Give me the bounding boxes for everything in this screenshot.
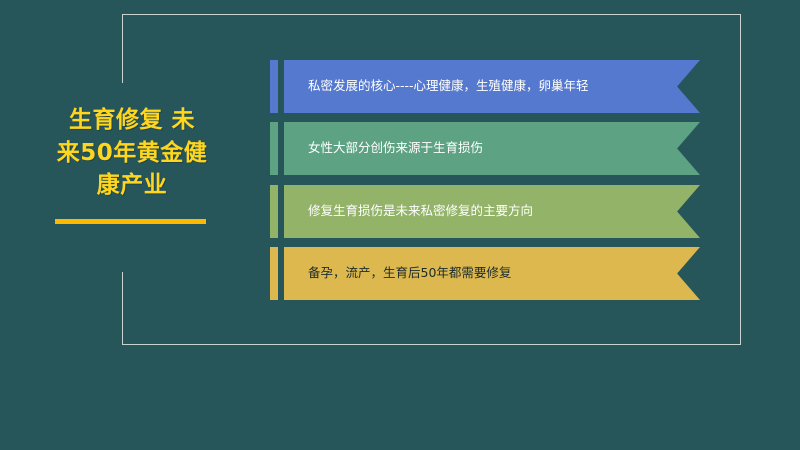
banner-accent-bar — [270, 60, 278, 113]
banner-label: 备孕，流产，生育后50年都需要修复 — [284, 265, 511, 281]
frame-right-line — [740, 14, 741, 345]
frame-left-lower-line — [122, 272, 123, 345]
banner-accent-bar — [270, 185, 278, 238]
banner-body: 备孕，流产，生育后50年都需要修复 — [284, 247, 700, 300]
banner-label: 女性大部分创伤来源于生育损伤 — [284, 140, 483, 156]
frame-top-line — [122, 14, 740, 15]
banner-label: 私密发展的核心----心理健康，生殖健康，卵巢年轻 — [284, 78, 589, 94]
slide-canvas: 生育修复 未 来50年黄金健 康产业 私密发展的核心----心理健康，生殖健康，… — [0, 0, 800, 450]
banner-label: 修复生育损伤是未来私密修复的主要方向 — [284, 203, 533, 219]
frame-bottom-line — [122, 344, 740, 345]
banner-body: 女性大部分创伤来源于生育损伤 — [284, 122, 700, 175]
slide-title: 生育修复 未 来50年黄金健 康产业 — [20, 104, 244, 202]
title-underline-rule — [55, 219, 206, 224]
banner-body: 私密发展的核心----心理健康，生殖健康，卵巢年轻 — [284, 60, 700, 113]
title-block: 生育修复 未 来50年黄金健 康产业 — [20, 104, 244, 202]
frame-left-upper-line — [122, 14, 123, 83]
banner-accent-bar — [270, 122, 278, 175]
banner-accent-bar — [270, 247, 278, 300]
banner-body: 修复生育损伤是未来私密修复的主要方向 — [284, 185, 700, 238]
